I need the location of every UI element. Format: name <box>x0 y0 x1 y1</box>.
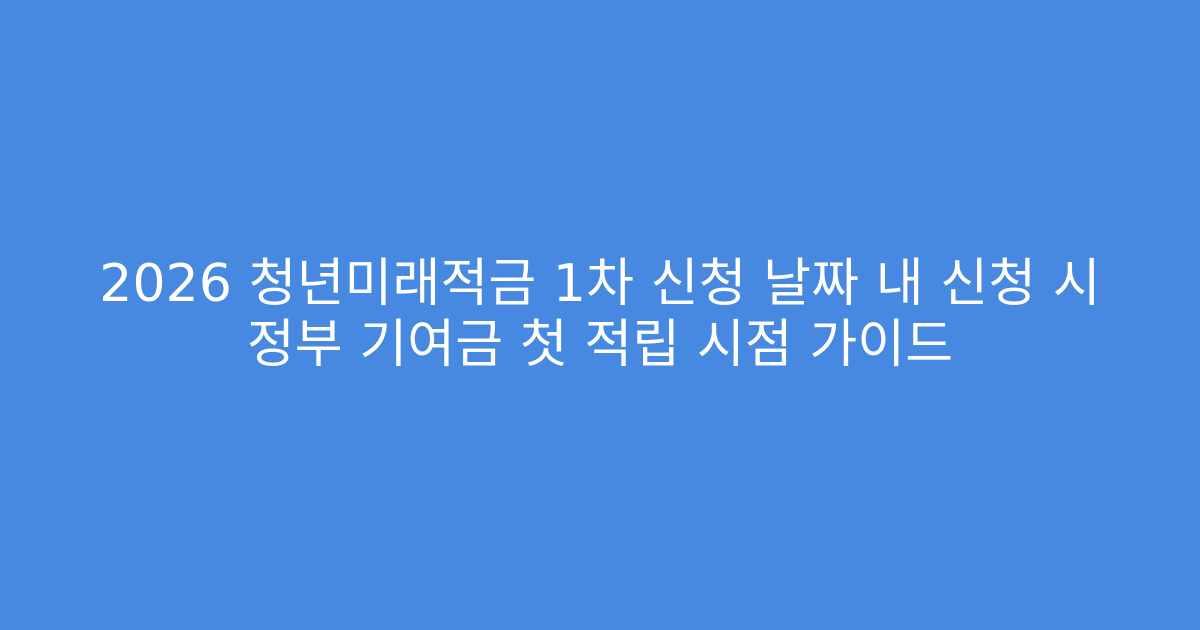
page-title: 2026 청년미래적금 1차 신청 날짜 내 신청 시 정부 기여금 첫 적립 … <box>64 254 1136 377</box>
title-block: 2026 청년미래적금 1차 신청 날짜 내 신청 시 정부 기여금 첫 적립 … <box>64 254 1136 377</box>
og-title-card: 2026 청년미래적금 1차 신청 날짜 내 신청 시 정부 기여금 첫 적립 … <box>0 0 1200 630</box>
